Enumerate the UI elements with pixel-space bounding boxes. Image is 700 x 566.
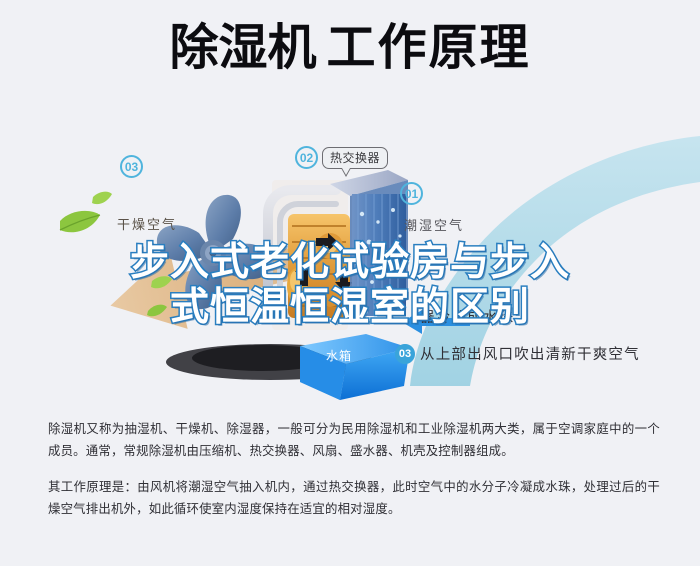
- badge-step-01: 01: [400, 182, 423, 205]
- water-tank-label: 水箱: [326, 347, 352, 364]
- body-copy: 除湿机又称为抽湿机、干燥机、除湿器，一般可分为民用除湿机和工业除湿机两大类，属于…: [48, 418, 660, 520]
- compressor-coils: [268, 180, 353, 330]
- body-paragraph-2: 其工作原理是：由风机将潮湿空气抽入机内，通过热交换器，此时空气中的水分子冷凝成水…: [48, 476, 660, 520]
- body-paragraph-1: 除湿机又称为抽湿机、干燥机、除湿器，一般可分为民用除湿机和工业除湿机两大类，属于…: [48, 418, 660, 462]
- page-title-part1: 除湿机: [169, 19, 316, 76]
- page-title: 除湿机工作原理: [0, 22, 700, 73]
- badge-step-03-list: 03: [395, 344, 415, 364]
- step-02-description: 器冷凝成水珠: [420, 306, 514, 327]
- poster-canvas: 除湿机工作原理: [0, 0, 700, 566]
- page-title-part2: 工作原理: [327, 19, 531, 76]
- heat-exchanger-callout: 热交换器: [322, 147, 388, 169]
- humid-air-label: 潮湿空气: [404, 215, 464, 234]
- badge-step-02: 02: [295, 146, 318, 169]
- badge-step-03: 03: [120, 155, 143, 178]
- step-03-description: 从上部出风口吹出清新干爽空气: [420, 343, 640, 364]
- water-tank: [300, 334, 410, 400]
- dry-air-label: 干燥空气: [117, 214, 177, 233]
